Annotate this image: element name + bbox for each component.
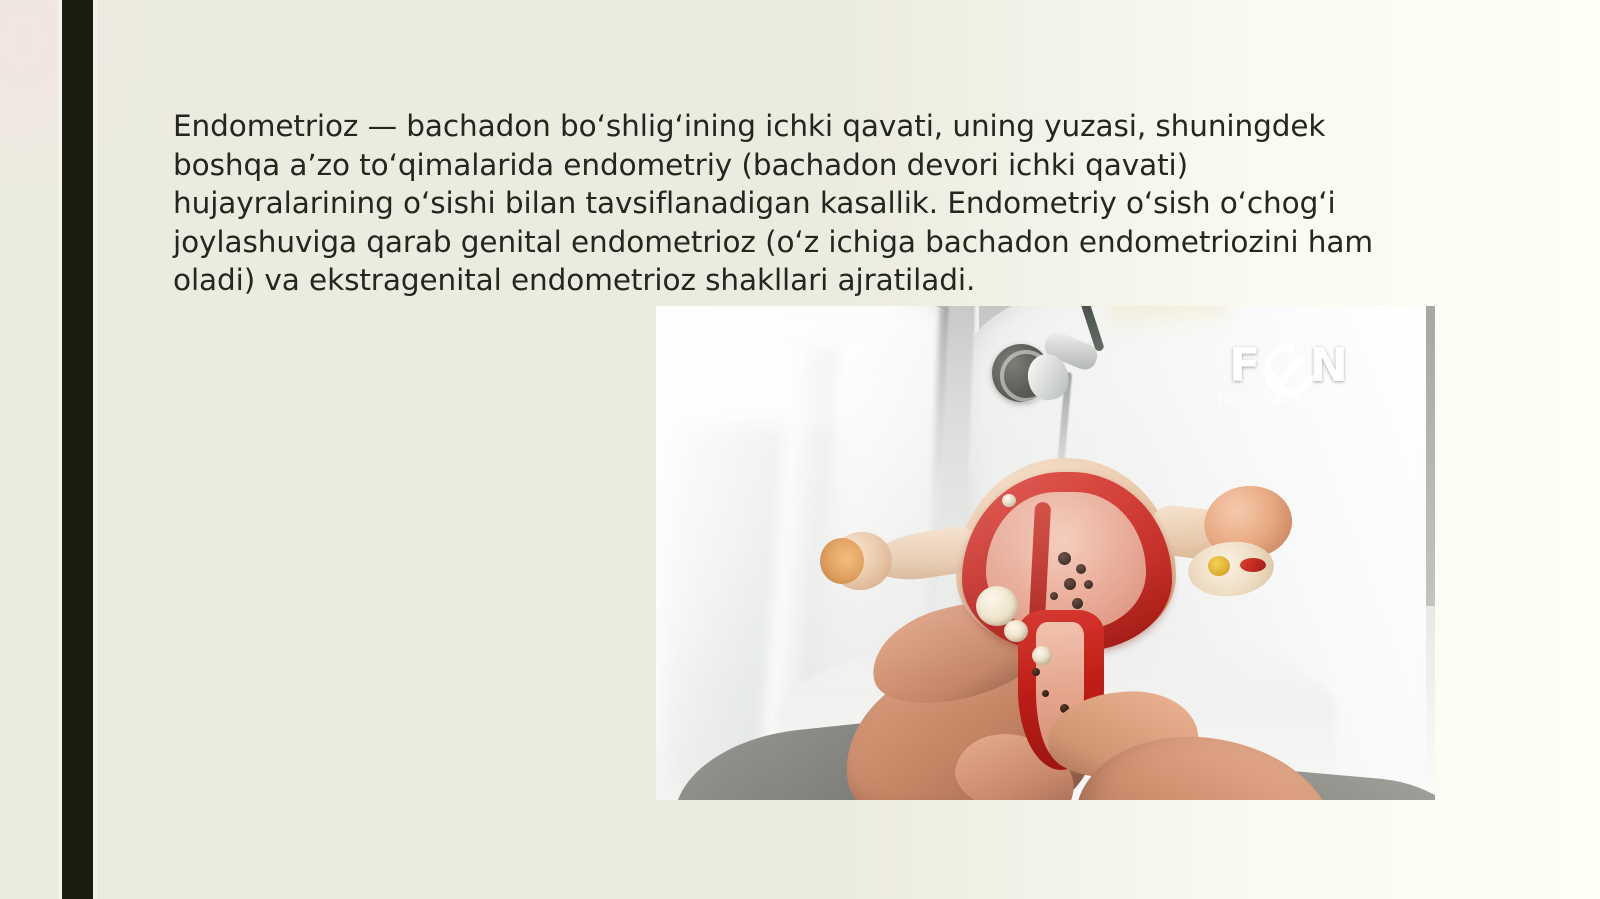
photo-canvas: F N factchecknet.uz xyxy=(656,306,1435,800)
slide-photo: F N factchecknet.uz xyxy=(656,306,1435,800)
endometriosis-lesion xyxy=(1058,552,1071,565)
endometrioma-nodule xyxy=(1002,494,1016,507)
endometriosis-lesion xyxy=(1084,580,1093,589)
left-accent-bar xyxy=(62,0,93,899)
endometriosis-lesion xyxy=(1072,598,1083,609)
endometriosis-lesion xyxy=(1076,564,1086,574)
endometriosis-lesion xyxy=(1042,690,1049,697)
endometriosis-lesion xyxy=(1050,592,1058,600)
endometrioma-nodule xyxy=(1004,620,1028,642)
slide: Endometrioz — bachadon bo‘shlig‘ining ic… xyxy=(0,0,1600,899)
left-accent-rule-inner xyxy=(93,0,97,899)
fimbriae-left xyxy=(820,538,864,584)
endometrioma-nodule xyxy=(1032,646,1052,665)
slide-body-text: Endometrioz — bachadon bo‘shlig‘ining ic… xyxy=(173,107,1391,300)
ovarian-follicle xyxy=(1208,556,1230,576)
endometriosis-lesion xyxy=(1032,668,1040,676)
endometriosis-lesion xyxy=(1064,578,1076,590)
corpus-luteum xyxy=(1240,558,1266,572)
